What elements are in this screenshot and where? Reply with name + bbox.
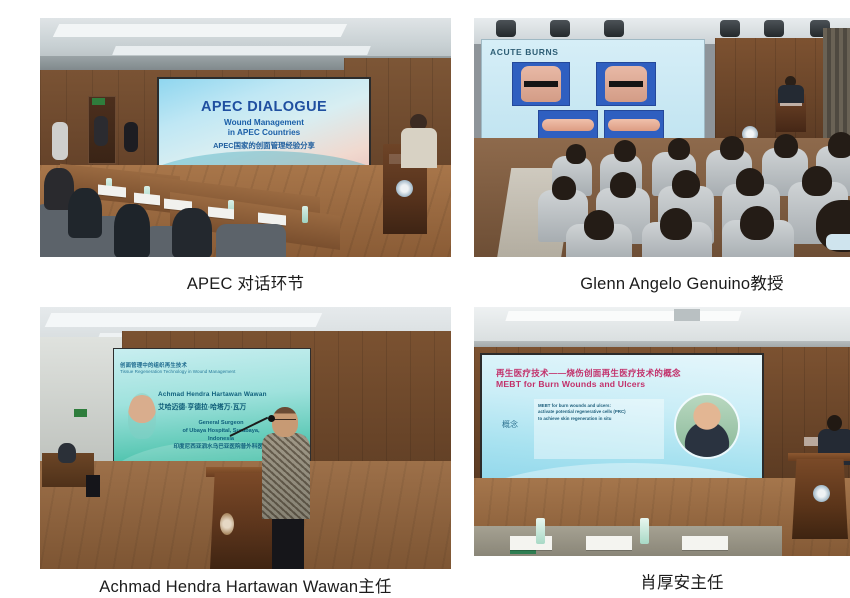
photo-wawan-presentation[interactable]: 创面管理中的组织再生技术 Tissue Regeneration Technol…: [40, 307, 451, 569]
slide-subtitle-cn: APEC国家的创面管理经验分享: [159, 140, 369, 151]
body-line3: to achieve skin regeneration in situ: [538, 416, 611, 421]
attendee: [124, 122, 138, 152]
figure-glenn-angelo-genuino: ACUTE BURNS: [474, 18, 850, 303]
body-line1: MEBT for burn wounds and ulcers:: [538, 403, 611, 408]
hospital-emblem-icon: [220, 513, 234, 535]
body-line2: activate potential regenerative cells (P…: [538, 409, 626, 414]
figure-xiao-houan: 再生医疗技术——烧伤创面再生医疗技术的概念 MEBT for Burn Woun…: [474, 307, 850, 598]
speaker-body: [401, 128, 437, 168]
attendee-head: [552, 176, 576, 200]
name-card: [682, 536, 728, 550]
attendee-head: [736, 168, 764, 196]
attendee-head: [660, 208, 692, 240]
hospital-emblem-icon: [813, 485, 830, 502]
speaker-portrait: [676, 395, 738, 457]
photo-grid-page: APEC DIALOGUE Wound Management in APEC C…: [0, 0, 850, 582]
attendee: [94, 116, 108, 146]
attendee: [114, 204, 150, 257]
stage-light-icon: [496, 20, 516, 37]
stage-curtain: [823, 28, 850, 140]
slide-speaker-role: General Surgeon of Ubaya Hospital, Surab…: [166, 419, 276, 451]
slide-title-en: MEBT for Burn Wounds and Ulcers: [496, 379, 645, 389]
speaker-portrait: [128, 393, 156, 439]
ceiling-light-slot: [53, 24, 347, 37]
attendee: [68, 188, 102, 238]
exit-sign-icon: [92, 98, 105, 105]
presentation-screen: 再生医疗技术——烧伤创面再生医疗技术的概念 MEBT for Burn Woun…: [482, 355, 762, 489]
water-bottle: [640, 518, 649, 544]
ceiling-light-slot: [45, 313, 323, 327]
attendee-head: [740, 206, 774, 240]
attendee-head: [614, 140, 636, 162]
exit-sign-icon: [74, 409, 87, 417]
attendee-head: [828, 132, 850, 158]
attendee-head: [584, 210, 614, 240]
presentation-screen: ACUTE BURNS: [482, 40, 704, 152]
slide-subtitle: Wound Management in APEC Countries: [159, 118, 369, 138]
figure-caption: Glenn Angelo Genuino教授: [474, 270, 850, 294]
role-line2: of Ubaya Hospital, Surabaya,: [182, 428, 259, 434]
photo-acute-burns-lecture[interactable]: ACUTE BURNS: [474, 18, 850, 257]
slide-speaker-name-cn: 艾哈迈德·亨德拉·哈塔万·瓦万: [158, 401, 246, 411]
photo-mebt-presentation[interactable]: 再生医疗技术——烧伤创面再生医疗技术的概念 MEBT for Burn Woun…: [474, 307, 850, 556]
speaker-legs: [272, 515, 304, 569]
stage-light-icon: [764, 20, 784, 37]
name-card: [510, 536, 552, 550]
attendee-head: [672, 170, 700, 198]
slide-header-cn: 创面管理中的组织再生技术: [120, 361, 187, 369]
attendee-head: [720, 136, 744, 160]
chair-back: [216, 224, 286, 257]
slide-title: ACUTE BURNS: [490, 47, 558, 57]
figure-achmad-hendra-hartawan-wawan: 创面管理中的组织再生技术 Tissue Regeneration Technol…: [40, 307, 451, 598]
figure-caption: 肖厚安主任: [474, 569, 850, 593]
stage-light-icon: [550, 20, 570, 37]
speaker-head: [827, 415, 842, 431]
attendee-head: [566, 144, 586, 164]
clinical-photo: [596, 62, 656, 106]
role-cn: 印度尼西亚泗水乌巴亚医院普外科医生: [173, 444, 268, 450]
microphone-icon: [268, 415, 275, 422]
slide-title: APEC DIALOGUE: [159, 99, 369, 115]
water-bottle: [536, 518, 545, 544]
ceiling-light-slot: [506, 311, 742, 321]
figure-caption: APEC 对话环节: [40, 270, 451, 294]
slide-text-panel: MEBT for burn wounds and ulcers: activat…: [534, 399, 664, 459]
photo-apec-dialogue[interactable]: APEC DIALOGUE Wound Management in APEC C…: [40, 18, 451, 257]
ceiling-vent: [674, 309, 700, 321]
hospital-emblem-icon: [396, 180, 413, 197]
face-mask: [826, 234, 850, 250]
slide-label-cn: 概念: [502, 419, 518, 430]
loudspeaker: [86, 475, 100, 497]
slide-body-text: MEBT for burn wounds and ulcers: activat…: [538, 403, 662, 422]
water-bottle: [302, 206, 308, 223]
attendee: [172, 208, 212, 257]
attendee-head: [802, 166, 832, 196]
slide-header-en: Tissue Regeneration Technology in Wound …: [120, 369, 235, 374]
name-card: [586, 536, 632, 550]
presentation-screen: APEC DIALOGUE Wound Management in APEC C…: [159, 79, 369, 171]
speaker-body: [778, 85, 804, 103]
speaker-batik-shirt: [262, 433, 310, 519]
attendee-head: [774, 134, 798, 158]
attendee-head: [668, 138, 690, 160]
ceiling-light-slot: [112, 46, 370, 55]
slide-title-cn: 再生医疗技术——烧伤创面再生医疗技术的概念: [496, 367, 681, 379]
glasses-icon: [274, 419, 296, 424]
role-line1: General Surgeon: [198, 420, 243, 426]
clinical-photo: [512, 62, 570, 106]
slide-subtitle-line2: in APEC Countries: [228, 128, 300, 137]
slide-subtitle-line1: Wound Management: [224, 118, 304, 127]
stage-light-icon: [604, 20, 624, 37]
seated-attendee: [58, 443, 76, 463]
slide-speaker-name: Achmad Hendra Hartawan Wawan: [158, 391, 267, 398]
stage-light-icon: [720, 20, 740, 37]
figure-apec-dialogue: APEC DIALOGUE Wound Management in APEC C…: [40, 18, 451, 303]
attendee: [52, 122, 68, 160]
figure-caption: Achmad Hendra Hartawan Wawan主任: [40, 573, 451, 597]
attendee-head: [610, 172, 636, 198]
